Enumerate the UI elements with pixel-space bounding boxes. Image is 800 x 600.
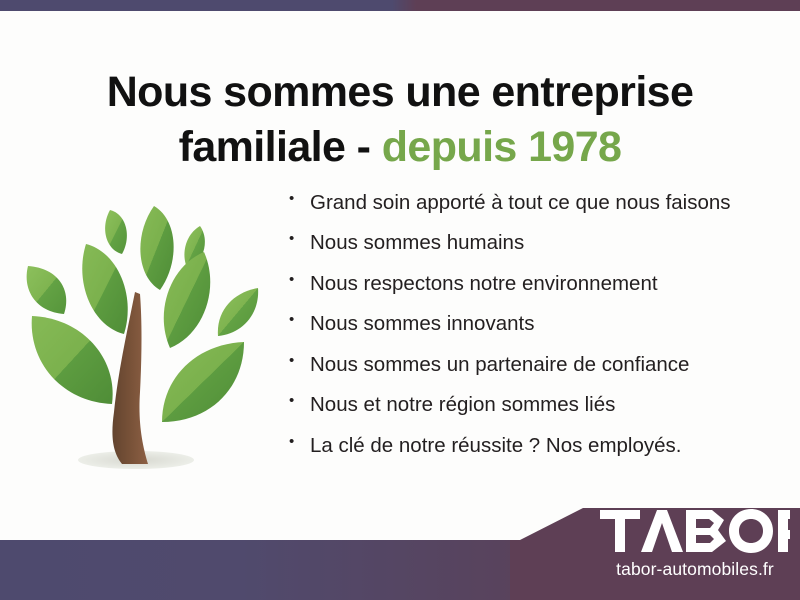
tree-leaves: [27, 206, 259, 422]
slide-root: Nous sommes une entreprise familiale - d…: [0, 0, 800, 600]
list-item: Grand soin apporté à tout ce que nous fa…: [286, 192, 786, 215]
tabor-logo[interactable]: [600, 508, 790, 554]
leaf-lower-right: [162, 342, 244, 422]
list-item: Nous respectons notre environnement: [286, 273, 786, 296]
leaf-far-right: [218, 288, 258, 336]
page-title: Nous sommes une entreprise familiale - d…: [40, 65, 760, 176]
leaf-lower-left: [32, 316, 113, 404]
headline-line-2-plain: familiale -: [179, 123, 382, 171]
logo-website-url[interactable]: tabor-automobiles.fr: [600, 559, 790, 580]
tabor-wordmark-icon: [600, 508, 790, 554]
value-list: Grand soin apporté à tout ce que nous fa…: [286, 192, 786, 475]
leaf-far-left: [27, 266, 67, 314]
headline-line-1: Nous sommes une entreprise: [107, 68, 694, 116]
list-item: Nous sommes un partenaire de confiance: [286, 354, 786, 377]
headline-line-2: familiale - depuis 1978: [40, 120, 760, 175]
list-item: Nous sommes innovants: [286, 313, 786, 336]
headline-accent-year: depuis 1978: [382, 123, 622, 171]
leaf-top-left-small: [105, 210, 127, 254]
leaf-upper-left: [82, 244, 127, 334]
list-item: Nous sommes humains: [286, 232, 786, 255]
tree-svg: [14, 192, 270, 480]
list-item: Nous et notre région sommes liés: [286, 394, 786, 417]
family-tree-illustration: [14, 192, 270, 480]
list-item: La clé de notre réussite ? Nos employés.: [286, 435, 786, 458]
top-accent-bar: [0, 0, 800, 11]
leaf-top-center: [140, 206, 173, 290]
